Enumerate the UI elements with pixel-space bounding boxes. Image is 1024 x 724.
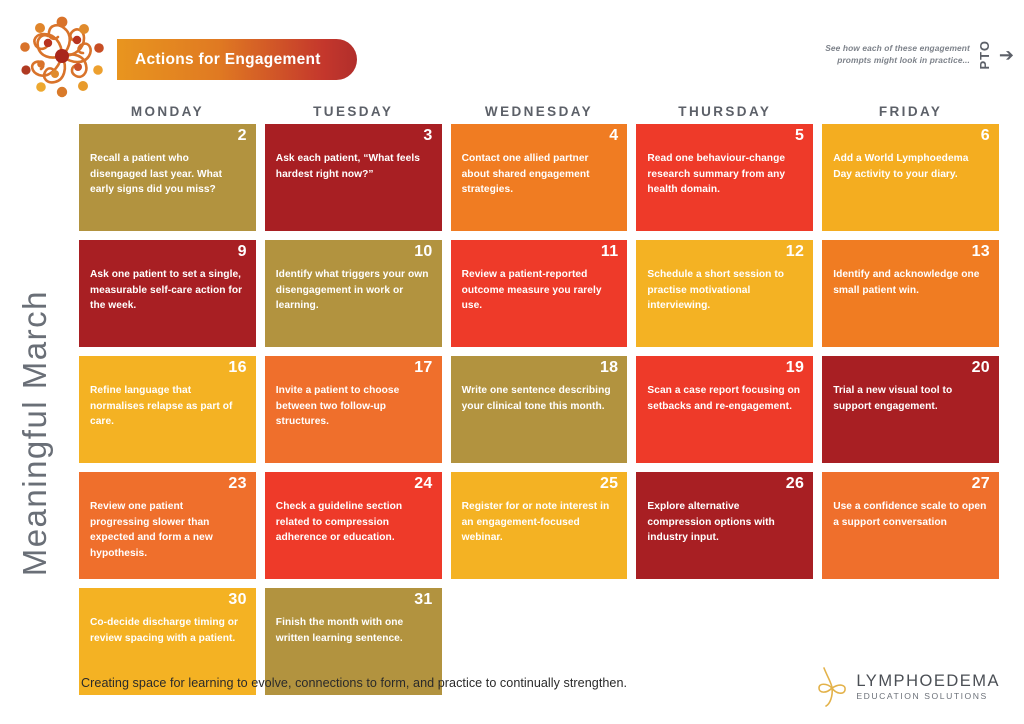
calendar-grid: 2Recall a patient who disengaged last ye…	[79, 124, 999, 695]
calendar-cell[interactable]: 26Explore alternative compression option…	[636, 472, 813, 579]
cell-day-number: 26	[786, 475, 804, 493]
footer-logo: LYMPHOEDEMA EDUCATION SOLUTIONS	[816, 666, 1000, 708]
calendar-cell[interactable]: 24Check a guideline section related to c…	[265, 472, 442, 579]
arrow-right-icon: ➔	[999, 46, 1014, 64]
page-header: Actions for Engagement See how each of t…	[0, 0, 1024, 100]
calendar-cell[interactable]: 20Trial a new visual tool to support eng…	[822, 356, 999, 463]
cell-prompt-text: Use a confidence scale to open a support…	[833, 499, 988, 530]
cell-prompt-text: Refine language that normalises relapse …	[90, 383, 245, 430]
cell-day-number: 31	[414, 591, 432, 609]
calendar-cell[interactable]: 5Read one behaviour-change research summ…	[636, 124, 813, 231]
calendar-cell[interactable]: 19Scan a case report focusing on setback…	[636, 356, 813, 463]
cell-prompt-text: Identify and acknowledge one small patie…	[833, 267, 988, 298]
cell-day-number: 16	[228, 359, 246, 377]
calendar-cell[interactable]: 17Invite a patient to choose between two…	[265, 356, 442, 463]
cell-day-number: 4	[609, 127, 618, 145]
cell-day-number: 9	[238, 243, 247, 261]
calendar-cell[interactable]: 18Write one sentence describing your cli…	[451, 356, 628, 463]
day-header-friday: FRIDAY	[822, 104, 999, 119]
cell-prompt-text: Review one patient progressing slower th…	[90, 499, 245, 561]
calendar-cell[interactable]: 25Register for or note interest in an en…	[451, 472, 628, 579]
cell-prompt-text: Co-decide discharge timing or review spa…	[90, 615, 245, 646]
banner-title: Actions for Engagement	[135, 51, 321, 69]
cell-prompt-text: Ask one patient to set a single, measura…	[90, 267, 245, 314]
cell-prompt-text: Identify what triggers your own disengag…	[276, 267, 431, 314]
day-header-thursday: THURSDAY	[636, 104, 813, 119]
lymphoedema-leaf-mark-icon	[816, 666, 848, 708]
cell-prompt-text: Register for or note interest in an enga…	[462, 499, 617, 546]
cell-prompt-text: Scan a case report focusing on setbacks …	[647, 383, 802, 414]
cell-prompt-text: Trial a new visual tool to support engag…	[833, 383, 988, 414]
cell-prompt-text: Recall a patient who disengaged last yea…	[90, 151, 245, 198]
pto-block: See how each of these engagement prompts…	[825, 40, 1014, 70]
calendar-cell-empty	[636, 588, 813, 695]
cell-prompt-text: Check a guideline section related to com…	[276, 499, 431, 546]
cell-prompt-text: Finish the month with one written learni…	[276, 615, 431, 646]
cell-day-number: 24	[414, 475, 432, 493]
day-header-wednesday: WEDNESDAY	[451, 104, 628, 119]
cell-prompt-text: Ask each patient, “What feels hardest ri…	[276, 151, 431, 182]
cell-day-number: 30	[228, 591, 246, 609]
cell-day-number: 25	[600, 475, 618, 493]
cell-day-number: 17	[414, 359, 432, 377]
calendar-cell[interactable]: 10Identify what triggers your own diseng…	[265, 240, 442, 347]
day-header-tuesday: TUESDAY	[265, 104, 442, 119]
cell-day-number: 12	[786, 243, 804, 261]
lymphoedema-flower-logo-icon	[14, 12, 110, 100]
cell-day-number: 20	[972, 359, 990, 377]
cell-prompt-text: Contact one allied partner about shared …	[462, 151, 617, 198]
calendar-cell[interactable]: 27Use a confidence scale to open a suppo…	[822, 472, 999, 579]
cell-day-number: 6	[981, 127, 990, 145]
calendar-cell[interactable]: 4Contact one allied partner about shared…	[451, 124, 628, 231]
calendar-cell[interactable]: 23Review one patient progressing slower …	[79, 472, 256, 579]
calendar-cell[interactable]: 3Ask each patient, “What feels hardest r…	[265, 124, 442, 231]
cell-prompt-text: Review a patient-reported outcome measur…	[462, 267, 617, 314]
title-banner: Actions for Engagement	[117, 39, 357, 80]
footer-wordmark: LYMPHOEDEMA EDUCATION SOLUTIONS	[856, 673, 1000, 700]
footer-logo-line1: LYMPHOEDEMA	[856, 673, 1000, 690]
cell-prompt-text: Add a World Lymphoedema Day activity to …	[833, 151, 988, 182]
month-title: Meaningful March	[16, 290, 54, 576]
cell-day-number: 11	[601, 243, 619, 261]
cell-day-number: 19	[786, 359, 804, 377]
cell-prompt-text: Schedule a short session to practise mot…	[647, 267, 802, 314]
calendar-cell[interactable]: 12Schedule a short session to practise m…	[636, 240, 813, 347]
pto-caption: See how each of these engagement prompts…	[825, 43, 970, 66]
calendar-cell[interactable]: 6Add a World Lymphoedema Day activity to…	[822, 124, 999, 231]
cell-prompt-text: Invite a patient to choose between two f…	[276, 383, 431, 430]
cell-day-number: 18	[600, 359, 618, 377]
cell-day-number: 3	[423, 127, 432, 145]
cell-prompt-text: Write one sentence describing your clini…	[462, 383, 617, 414]
cell-day-number: 13	[972, 243, 990, 261]
pto-label: PTO	[977, 40, 992, 70]
cell-prompt-text: Explore alternative compression options …	[647, 499, 802, 546]
cell-day-number: 27	[972, 475, 990, 493]
day-header-monday: MONDAY	[79, 104, 256, 119]
calendar-cell[interactable]: 9Ask one patient to set a single, measur…	[79, 240, 256, 347]
calendar-cell[interactable]: 16Refine language that normalises relaps…	[79, 356, 256, 463]
calendar-cell[interactable]: 13Identify and acknowledge one small pat…	[822, 240, 999, 347]
footer-tagline: Creating space for learning to evolve, c…	[81, 676, 627, 690]
calendar-cell[interactable]: 2Recall a patient who disengaged last ye…	[79, 124, 256, 231]
footer-logo-line2: EDUCATION SOLUTIONS	[856, 692, 1000, 701]
calendar-cell[interactable]: 11Review a patient-reported outcome meas…	[451, 240, 628, 347]
cell-day-number: 2	[238, 127, 247, 145]
cell-day-number: 10	[414, 243, 432, 261]
cell-prompt-text: Read one behaviour-change research summa…	[647, 151, 802, 198]
day-header-row: MONDAY TUESDAY WEDNESDAY THURSDAY FRIDAY	[79, 104, 999, 119]
cell-day-number: 5	[795, 127, 804, 145]
cell-day-number: 23	[228, 475, 246, 493]
